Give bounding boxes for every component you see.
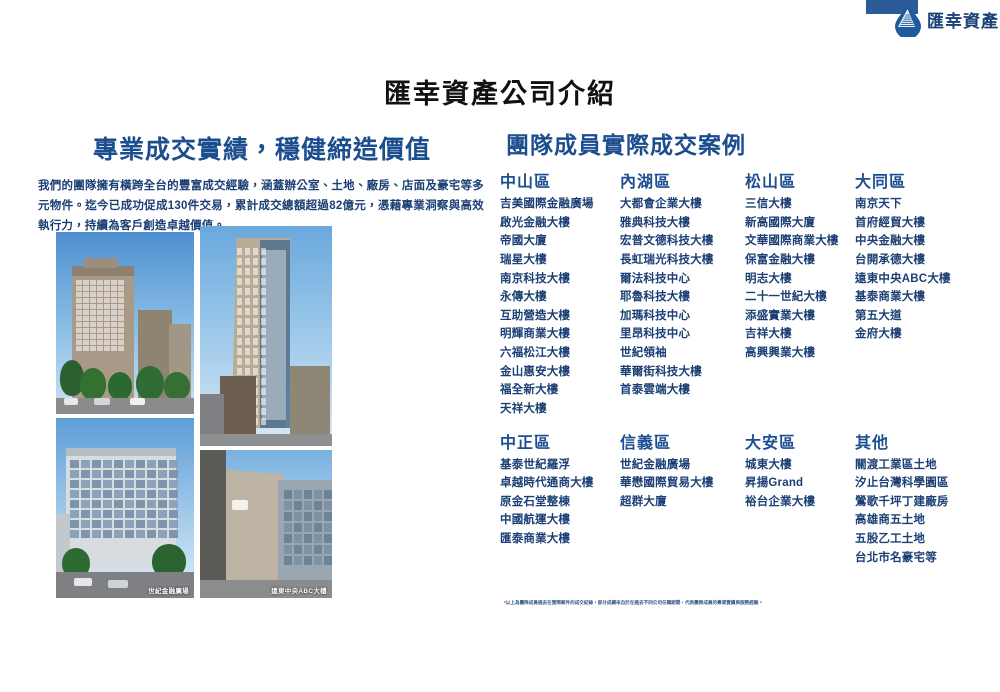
page-title: 匯幸資產公司介紹 (0, 72, 1000, 111)
footnote-disclaimer: *以上為團隊成員過去在實際案件的成交紀錄，部分成績來自於在過去不同公司任職期間，… (504, 600, 934, 606)
district-block-others: 其他 關渡工業區土地 汐止台灣科學園區 鶯歌千坪丁建廠房 高雄商五土地 五股乙工… (855, 429, 1000, 568)
list-item: 金府大樓 (855, 325, 1000, 344)
list-item: 六福松江大樓 (500, 344, 620, 363)
list-item: 大都會企業大樓 (620, 195, 745, 214)
photo-tower-beige (56, 232, 194, 414)
list-item: 加瑪科技中心 (620, 307, 745, 326)
district-block-zhongzheng: 中正區 基泰世紀羅浮 卓越時代通商大樓 原金石堂整棟 中國航運大樓 匯泰商業大樓 (500, 429, 620, 568)
list-item: 三信大樓 (745, 195, 855, 214)
list-item: 互助營造大樓 (500, 307, 620, 326)
district-block-xinyi: 信義區 世紀金融廣場 華懋國際貿易大樓 超群大廈 (620, 429, 745, 568)
list-item: 卓越時代通商大樓 (500, 474, 620, 493)
list-item: 超群大廈 (620, 493, 745, 512)
district-title: 信義區 (620, 429, 745, 453)
list-item: 世紀金融廣場 (620, 456, 745, 475)
list-item: 遠東中央ABC大樓 (855, 270, 1000, 289)
list-item: 第五大道 (855, 307, 1000, 326)
district-block-songshan: 松山區 三信大樓 新高國際大廈 文華國際商業大樓 保富金融大樓 明志大樓 二十一… (745, 168, 855, 419)
district-list: 南京天下 首府經貿大樓 中央金融大樓 台開承德大樓 遠東中央ABC大樓 基泰商業… (855, 195, 1000, 344)
district-title: 內湖區 (620, 168, 745, 192)
district-list: 城東大樓 昇揚Grand 裕台企業大樓 (745, 456, 855, 512)
district-title: 中山區 (500, 168, 620, 192)
district-list: 大都會企業大樓 雅典科技大樓 宏普文德科技大樓 長虹瑞光科技大樓 爾法科技中心 … (620, 195, 745, 400)
list-item: 宏普文德科技大樓 (620, 232, 745, 251)
list-item: 吉祥大樓 (745, 325, 855, 344)
list-item: 新高國際大廈 (745, 214, 855, 233)
list-item: 天祥大樓 (500, 400, 620, 419)
district-block-daan: 大安區 城東大樓 昇揚Grand 裕台企業大樓 (745, 429, 855, 568)
list-item: 首府經貿大樓 (855, 214, 1000, 233)
list-item: 華爾街科技大樓 (620, 363, 745, 382)
slide-root: 匯幸資產 匯幸資產公司介紹 專業成交實績，穩健締造價值 我們的團隊擁有橫跨全台的… (0, 0, 1000, 692)
list-item: 五股乙工土地 (855, 530, 1000, 549)
district-title: 松山區 (745, 168, 855, 192)
right-heading: 團隊成員實際成交案例 (506, 126, 1000, 160)
list-item: 明志大樓 (745, 270, 855, 289)
list-item: 耶魯科技大樓 (620, 288, 745, 307)
list-item: 基泰商業大樓 (855, 288, 1000, 307)
list-item: 長虹瑞光科技大樓 (620, 251, 745, 270)
left-heading: 專業成交實績，穩健締造價值 (32, 130, 492, 166)
list-item: 關渡工業區土地 (855, 456, 1000, 475)
district-grid-row-2: 中正區 基泰世紀羅浮 卓越時代通商大樓 原金石堂整棟 中國航運大樓 匯泰商業大樓… (500, 429, 1000, 574)
list-item: 高雄商五土地 (855, 511, 1000, 530)
list-item: 基泰世紀羅浮 (500, 456, 620, 475)
photo-caption: 世紀金融廣場 (148, 585, 189, 595)
district-title: 大同區 (855, 168, 1000, 192)
list-item: 中國航運大樓 (500, 511, 620, 530)
list-item: 汐止台灣科學園區 (855, 474, 1000, 493)
district-list: 世紀金融廣場 華懋國際貿易大樓 超群大廈 (620, 456, 745, 512)
list-item: 鶯歌千坪丁建廠房 (855, 493, 1000, 512)
district-list: 三信大樓 新高國際大廈 文華國際商業大樓 保富金融大樓 明志大樓 二十一世紀大樓… (745, 195, 855, 363)
list-item: 爾法科技中心 (620, 270, 745, 289)
list-item: 保富金融大樓 (745, 251, 855, 270)
photo-street-building: 遠東中央ABC大樓 (200, 450, 332, 598)
list-item: 福全新大樓 (500, 381, 620, 400)
photo-white-office: 世紀金融廣場 (56, 418, 194, 598)
district-title: 中正區 (500, 429, 620, 453)
list-item: 明輝商業大樓 (500, 325, 620, 344)
building-droplet-logo-icon (893, 5, 923, 37)
district-block-neihu: 內湖區 大都會企業大樓 雅典科技大樓 宏普文德科技大樓 長虹瑞光科技大樓 爾法科… (620, 168, 745, 419)
top-bar: 匯幸資產 (0, 0, 1000, 44)
list-item: 昇揚Grand (745, 474, 855, 493)
photo-caption: 遠東中央ABC大樓 (271, 585, 327, 595)
left-section: 專業成交實績，穩健締造價值 我們的團隊擁有橫跨全台的豐富成交經驗，涵蓋辦公室、土… (32, 130, 492, 236)
list-item: 城東大樓 (745, 456, 855, 475)
list-item: 瑞星大樓 (500, 251, 620, 270)
district-title: 其他 (855, 429, 1000, 453)
list-item: 金山惠安大樓 (500, 363, 620, 382)
list-item: 南京科技大樓 (500, 270, 620, 289)
list-item: 裕台企業大樓 (745, 493, 855, 512)
list-item: 華懋國際貿易大樓 (620, 474, 745, 493)
list-item: 帝國大廈 (500, 232, 620, 251)
list-item: 二十一世紀大樓 (745, 288, 855, 307)
list-item: 世紀領袖 (620, 344, 745, 363)
list-item: 里昂科技中心 (620, 325, 745, 344)
brand-logo: 匯幸資產 (893, 5, 999, 37)
photo-glass-tower (200, 226, 332, 446)
list-item: 吉美國際金融廣場 (500, 195, 620, 214)
district-block-datong: 大同區 南京天下 首府經貿大樓 中央金融大樓 台開承德大樓 遠東中央ABC大樓 … (855, 168, 1000, 419)
list-item: 原金石堂整棟 (500, 493, 620, 512)
district-list: 關渡工業區土地 汐止台灣科學園區 鶯歌千坪丁建廠房 高雄商五土地 五股乙工土地 … (855, 456, 1000, 568)
photo-collage: 世紀金融廣場 遠東中央ABC大樓 (56, 232, 332, 598)
list-item: 首泰雲端大樓 (620, 381, 745, 400)
list-item: 中央金融大樓 (855, 232, 1000, 251)
brand-name: 匯幸資產 (927, 13, 999, 30)
district-title: 大安區 (745, 429, 855, 453)
list-item: 台開承德大樓 (855, 251, 1000, 270)
list-item: 永傳大樓 (500, 288, 620, 307)
list-item: 台北市名豪宅等 (855, 549, 1000, 568)
list-item: 啟光金融大樓 (500, 214, 620, 233)
right-section: 團隊成員實際成交案例 中山區 吉美國際金融廣場 啟光金融大樓 帝國大廈 瑞星大樓… (500, 126, 1000, 573)
district-grid-row-1: 中山區 吉美國際金融廣場 啟光金融大樓 帝國大廈 瑞星大樓 南京科技大樓 永傳大… (500, 168, 1000, 425)
district-block-zhongshan: 中山區 吉美國際金融廣場 啟光金融大樓 帝國大廈 瑞星大樓 南京科技大樓 永傳大… (500, 168, 620, 419)
district-list: 吉美國際金融廣場 啟光金融大樓 帝國大廈 瑞星大樓 南京科技大樓 永傳大樓 互助… (500, 195, 620, 419)
list-item: 雅典科技大樓 (620, 214, 745, 233)
list-item: 添盛實業大樓 (745, 307, 855, 326)
district-list: 基泰世紀羅浮 卓越時代通商大樓 原金石堂整棟 中國航運大樓 匯泰商業大樓 (500, 456, 620, 549)
list-item: 高興興業大樓 (745, 344, 855, 363)
list-item: 文華國際商業大樓 (745, 232, 855, 251)
list-item: 南京天下 (855, 195, 1000, 214)
list-item: 匯泰商業大樓 (500, 530, 620, 549)
